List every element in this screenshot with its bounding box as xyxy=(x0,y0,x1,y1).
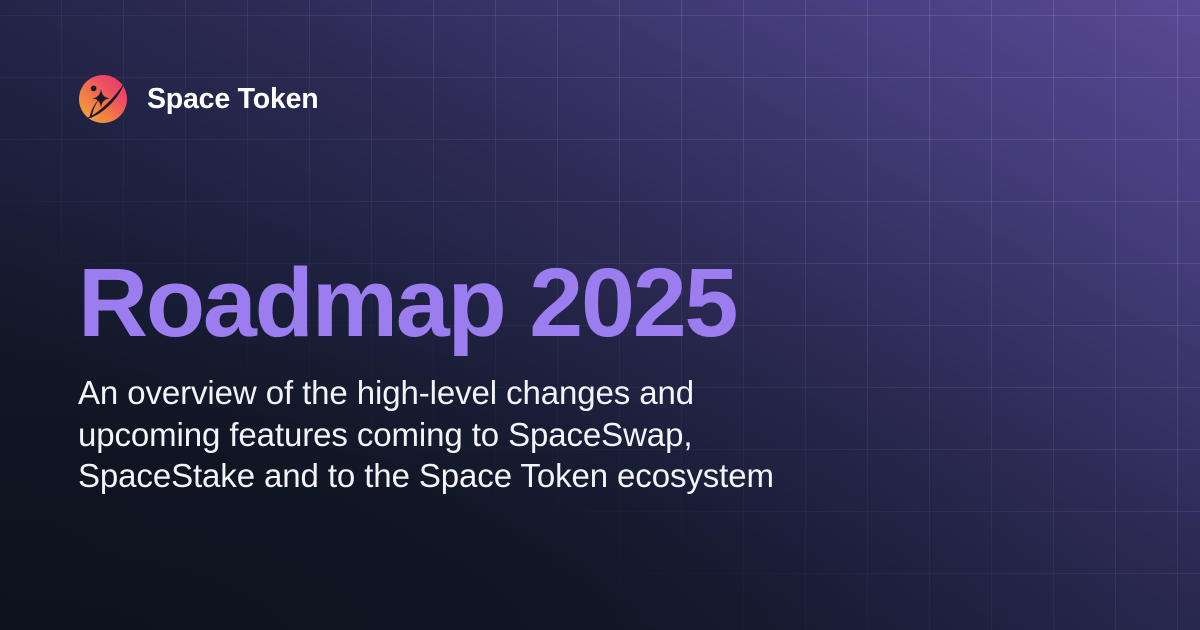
space-token-logo-icon xyxy=(78,74,128,124)
brand-name-label: Space Token xyxy=(147,85,319,114)
brand-lockup[interactable]: Space Token xyxy=(78,74,319,124)
page-subtitle: An overview of the high-level changes an… xyxy=(78,372,838,497)
headline-block: Roadmap 2025 An overview of the high-lev… xyxy=(78,255,938,497)
og-banner: Space Token Roadmap 2025 An overview of … xyxy=(0,0,1200,630)
page-title: Roadmap 2025 xyxy=(78,255,938,350)
banner-content: Space Token Roadmap 2025 An overview of … xyxy=(0,0,1200,630)
